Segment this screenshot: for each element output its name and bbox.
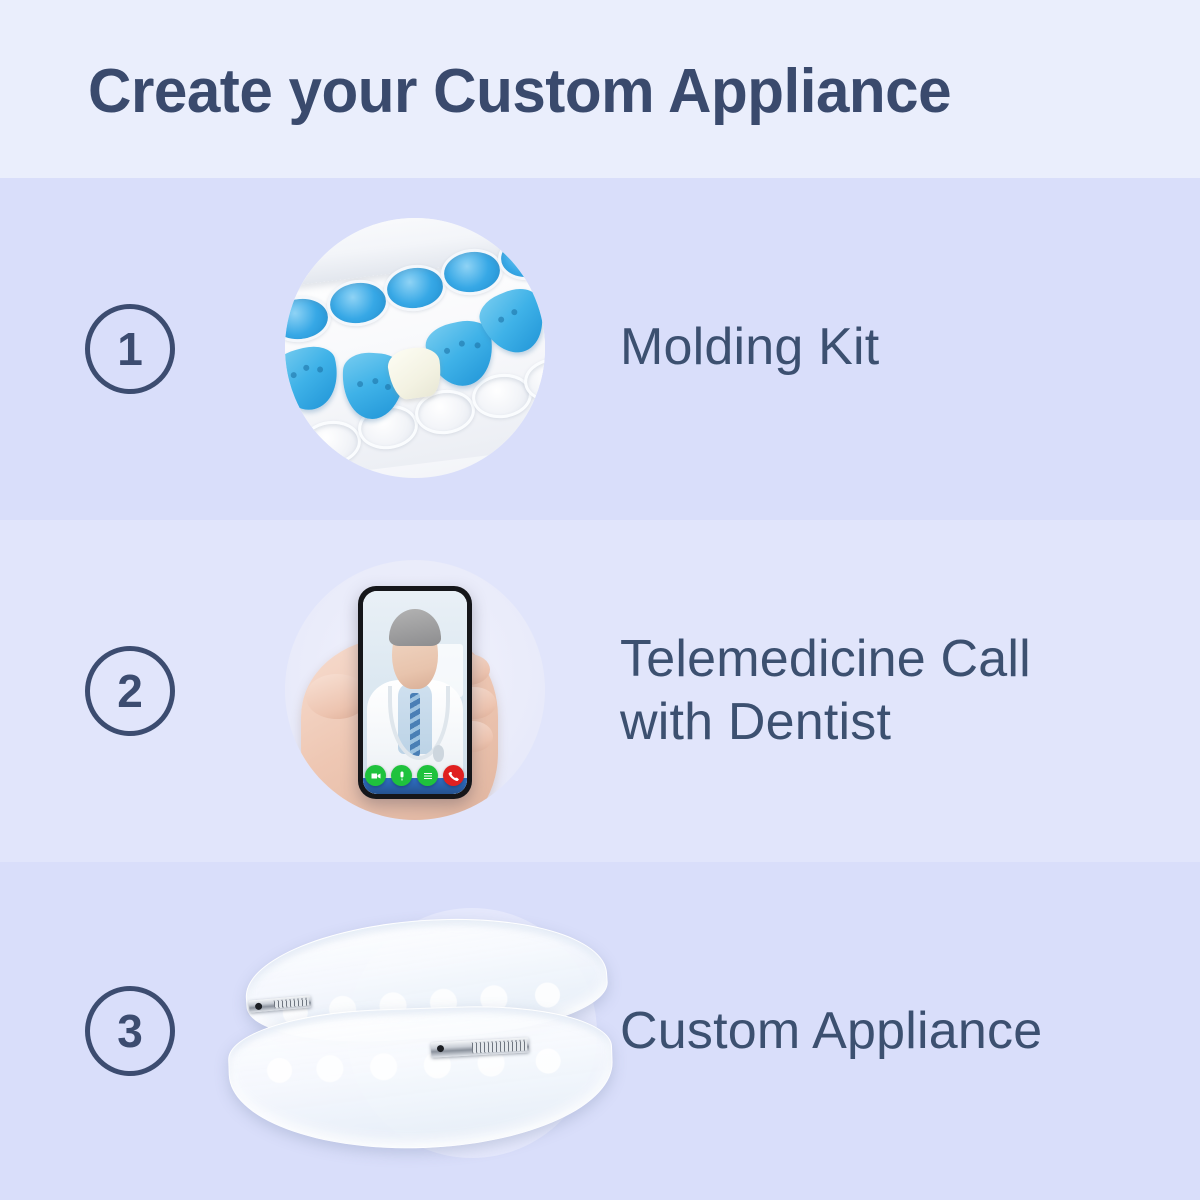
- step-number-label-2: 2: [117, 668, 143, 714]
- step-number-label-1: 1: [117, 326, 143, 372]
- step-row-1: 1: [0, 178, 1200, 520]
- phone-screen: [363, 591, 467, 794]
- end-call-phone-icon[interactable]: [443, 765, 464, 786]
- step-label-2: Telemedicine Call with Dentist: [620, 628, 1031, 755]
- step-row-3: 3 Custom Appliance: [0, 862, 1200, 1200]
- adjustment-screw: [255, 1003, 263, 1011]
- adjustment-ridges: [472, 1040, 527, 1054]
- header-band: Create your Custom Appliance: [0, 0, 1200, 178]
- adjustment-screw: [437, 1045, 444, 1052]
- step-label-1: Molding Kit: [620, 316, 879, 379]
- step-label-3: Custom Appliance: [620, 1000, 1042, 1063]
- step-row-2: 2: [0, 520, 1200, 862]
- molding-kit-photo: [285, 218, 545, 478]
- call-control-bar: [363, 765, 467, 786]
- appliance-lower-tray: [227, 1001, 616, 1154]
- step-number-label-3: 3: [117, 1008, 143, 1054]
- stethoscope-bell: [433, 745, 444, 761]
- video-camera-icon[interactable]: [365, 765, 386, 786]
- step-number-circle-2: 2: [85, 646, 175, 736]
- telemedicine-scene: [285, 560, 545, 820]
- page-title: Create your Custom Appliance: [88, 56, 951, 127]
- smartphone: [358, 586, 472, 799]
- adjustment-ridges: [274, 997, 309, 1008]
- molding-kit-scene: [285, 218, 545, 478]
- molding-kit-circle-mask: [285, 218, 545, 478]
- step-number-circle-1: 1: [85, 304, 175, 394]
- custom-appliance-steps-page: Create your Custom Appliance 1: [0, 0, 1200, 1200]
- telemedicine-circle-mask: [285, 560, 545, 820]
- microphone-icon[interactable]: [391, 765, 412, 786]
- step-number-circle-3: 3: [85, 986, 175, 1076]
- lower-tooth-impressions: [251, 1028, 589, 1103]
- telemedicine-call-photo: [285, 560, 545, 820]
- chat-lines-icon[interactable]: [417, 765, 438, 786]
- custom-appliance-photo: [215, 882, 635, 1182]
